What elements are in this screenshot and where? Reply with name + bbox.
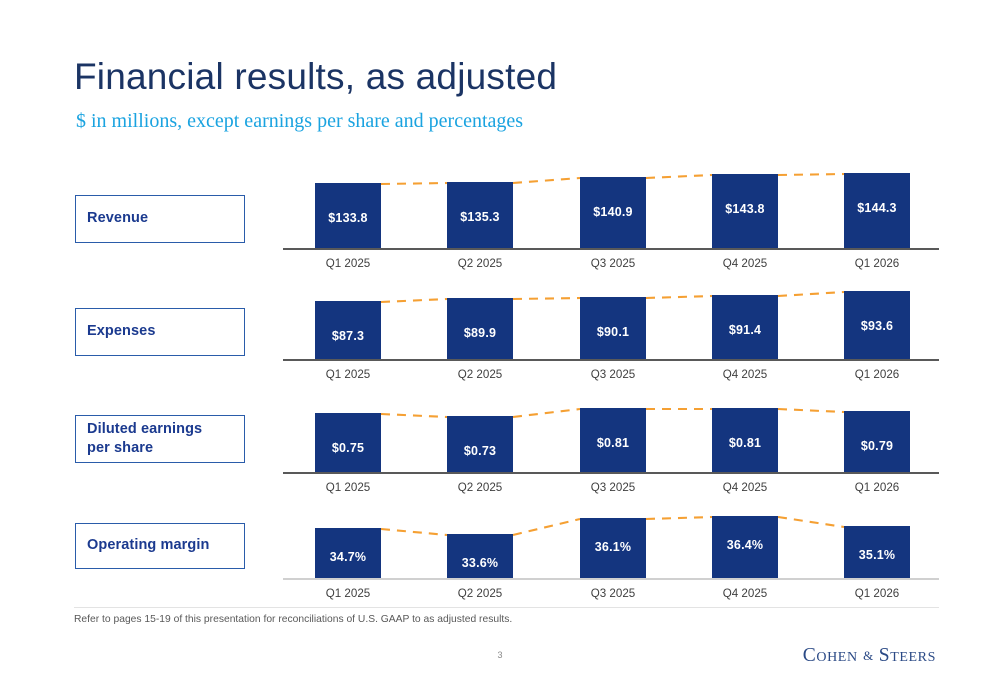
page-title: Financial results, as adjusted [74, 57, 557, 98]
x-axis-tick-label: Q4 2025 [712, 587, 778, 600]
bar-diluted-earnings-per-share-q4-2025: $0.81 [712, 408, 778, 472]
bar-chart-diluted-earnings-per-share: $0.75$0.73$0.81$0.81$0.79Q1 2025Q2 2025Q… [283, 396, 939, 500]
bar-value-label: $91.4 [712, 323, 778, 337]
bar-revenue-q1-2025: $133.8 [315, 183, 381, 248]
x-axis-tick-label: Q3 2025 [580, 587, 646, 600]
metric-label-box-expenses: Expenses [75, 308, 245, 356]
x-axis-tick-label: Q1 2026 [844, 481, 910, 494]
x-axis-tick-label: Q3 2025 [580, 257, 646, 270]
bar-expenses-q4-2025: $91.4 [712, 295, 778, 359]
bar-value-label: 36.1% [580, 540, 646, 554]
x-axis-tick-label: Q2 2025 [447, 257, 513, 270]
x-axis-tick-label: Q3 2025 [580, 481, 646, 494]
bar-operating-margin-q3-2025: 36.1% [580, 518, 646, 578]
page-subtitle: $ in millions, except earnings per share… [76, 110, 523, 133]
metric-row-operating-margin: Operating margin34.7%33.6%36.1%36.4%35.1… [0, 500, 1000, 604]
metric-label-box-revenue: Revenue [75, 195, 245, 243]
metric-label-line-2: per share [87, 439, 202, 458]
bar-expenses-q3-2025: $90.1 [580, 297, 646, 359]
bar-expenses-q1-2026: $93.6 [844, 291, 910, 359]
x-axis-tick-label: Q4 2025 [712, 257, 778, 270]
x-axis-tick-label: Q1 2025 [315, 257, 381, 270]
connector-segment [646, 175, 712, 178]
bar-diluted-earnings-per-share-q1-2025: $0.75 [315, 413, 381, 472]
connector-segment [646, 296, 712, 298]
x-axis-line [283, 359, 939, 361]
metric-label-box-operating-margin: Operating margin [75, 523, 245, 569]
bar-operating-margin-q4-2025: 36.4% [712, 516, 778, 578]
bar-chart-expenses: $87.3$89.9$90.1$91.4$93.6Q1 2025Q2 2025Q… [283, 281, 939, 385]
bar-operating-margin-q1-2025: 34.7% [315, 528, 381, 578]
connector-segment [381, 414, 447, 417]
logo-second-word: Steers [879, 645, 936, 666]
bar-revenue-q2-2025: $135.3 [447, 182, 513, 248]
x-axis-tick-label: Q1 2026 [844, 368, 910, 381]
bar-operating-margin-q2-2025: 33.6% [447, 534, 513, 578]
bar-diluted-earnings-per-share-q3-2025: $0.81 [580, 408, 646, 472]
bar-value-label: $87.3 [315, 329, 381, 343]
connector-segment [513, 409, 580, 417]
metric-label-text: Diluted earningsper share [87, 420, 202, 458]
connector-segment [513, 298, 580, 299]
bar-value-label: 36.4% [712, 538, 778, 552]
metric-label-text: Expenses [87, 322, 156, 341]
bar-value-label: $90.1 [580, 325, 646, 339]
x-axis-tick-label: Q1 2025 [315, 368, 381, 381]
metric-label-text: Revenue [87, 209, 148, 228]
x-axis-tick-label: Q3 2025 [580, 368, 646, 381]
metric-row-diluted-earnings-per-share: Diluted earningsper share$0.75$0.73$0.81… [0, 396, 1000, 500]
x-axis-tick-label: Q2 2025 [447, 481, 513, 494]
bar-expenses-q2-2025: $89.9 [447, 298, 513, 359]
bar-value-label: $0.81 [712, 436, 778, 450]
metric-row-revenue: Revenue$133.8$135.3$140.9$143.8$144.3Q1 … [0, 168, 1000, 272]
x-axis-tick-label: Q1 2026 [844, 587, 910, 600]
bar-value-label: $0.81 [580, 436, 646, 450]
bar-diluted-earnings-per-share-q2-2025: $0.73 [447, 416, 513, 472]
bar-revenue-q3-2025: $140.9 [580, 177, 646, 248]
bar-diluted-earnings-per-share-q1-2026: $0.79 [844, 411, 910, 472]
connector-segment [513, 178, 580, 183]
connector-segment [778, 409, 844, 412]
bar-value-label: 33.6% [447, 556, 513, 570]
x-axis-tick-label: Q2 2025 [447, 368, 513, 381]
connector-segment [778, 292, 844, 296]
bar-expenses-q1-2025: $87.3 [315, 301, 381, 359]
x-axis-tick-label: Q4 2025 [712, 368, 778, 381]
bar-chart-operating-margin: 34.7%33.6%36.1%36.4%35.1%Q1 2025Q2 2025Q… [283, 500, 939, 604]
footnote: Refer to pages 15-19 of this presentatio… [74, 614, 512, 625]
bar-value-label: $133.8 [315, 211, 381, 225]
bar-value-label: $143.8 [712, 202, 778, 216]
x-axis-tick-label: Q1 2026 [844, 257, 910, 270]
metric-label-line-1: Diluted earnings [87, 420, 202, 439]
bar-value-label: $0.75 [315, 441, 381, 455]
x-axis-line [283, 472, 939, 474]
metric-label-text: Operating margin [87, 536, 209, 555]
cohen-and-steers-logo: Cohen & Steers [803, 645, 936, 667]
x-axis-tick-label: Q1 2025 [315, 587, 381, 600]
connector-segment [381, 299, 447, 302]
logo-first-word: Cohen [803, 645, 858, 666]
bar-value-label: $144.3 [844, 201, 910, 215]
connector-segment [778, 174, 844, 175]
connector-segment [513, 519, 580, 535]
connector-segment [646, 517, 712, 519]
slide: Financial results, as adjusted $ in mill… [0, 0, 1000, 685]
logo-ampersand: & [863, 648, 873, 663]
x-axis-tick-label: Q1 2025 [315, 481, 381, 494]
x-axis-tick-label: Q2 2025 [447, 587, 513, 600]
metric-row-expenses: Expenses$87.3$89.9$90.1$91.4$93.6Q1 2025… [0, 281, 1000, 385]
bar-operating-margin-q1-2026: 35.1% [844, 526, 910, 578]
bar-value-label: $89.9 [447, 326, 513, 340]
x-axis-tick-label: Q4 2025 [712, 481, 778, 494]
bar-chart-revenue: $133.8$135.3$140.9$143.8$144.3Q1 2025Q2 … [283, 168, 939, 272]
bar-revenue-q4-2025: $143.8 [712, 174, 778, 248]
x-axis-line [283, 248, 939, 250]
connector-segment [381, 183, 447, 184]
bar-revenue-q1-2026: $144.3 [844, 173, 910, 248]
bar-value-label: $0.73 [447, 444, 513, 458]
bar-value-label: $140.9 [580, 205, 646, 219]
footer-divider [74, 607, 939, 608]
bar-value-label: 35.1% [844, 548, 910, 562]
connector-segment [381, 529, 447, 535]
connector-segment [778, 517, 844, 527]
bar-value-label: $0.79 [844, 439, 910, 453]
bar-value-label: $93.6 [844, 319, 910, 333]
x-axis-line [283, 578, 939, 580]
bar-value-label: $135.3 [447, 210, 513, 224]
bar-value-label: 34.7% [315, 550, 381, 564]
metric-label-box-diluted-earnings-per-share: Diluted earningsper share [75, 415, 245, 463]
